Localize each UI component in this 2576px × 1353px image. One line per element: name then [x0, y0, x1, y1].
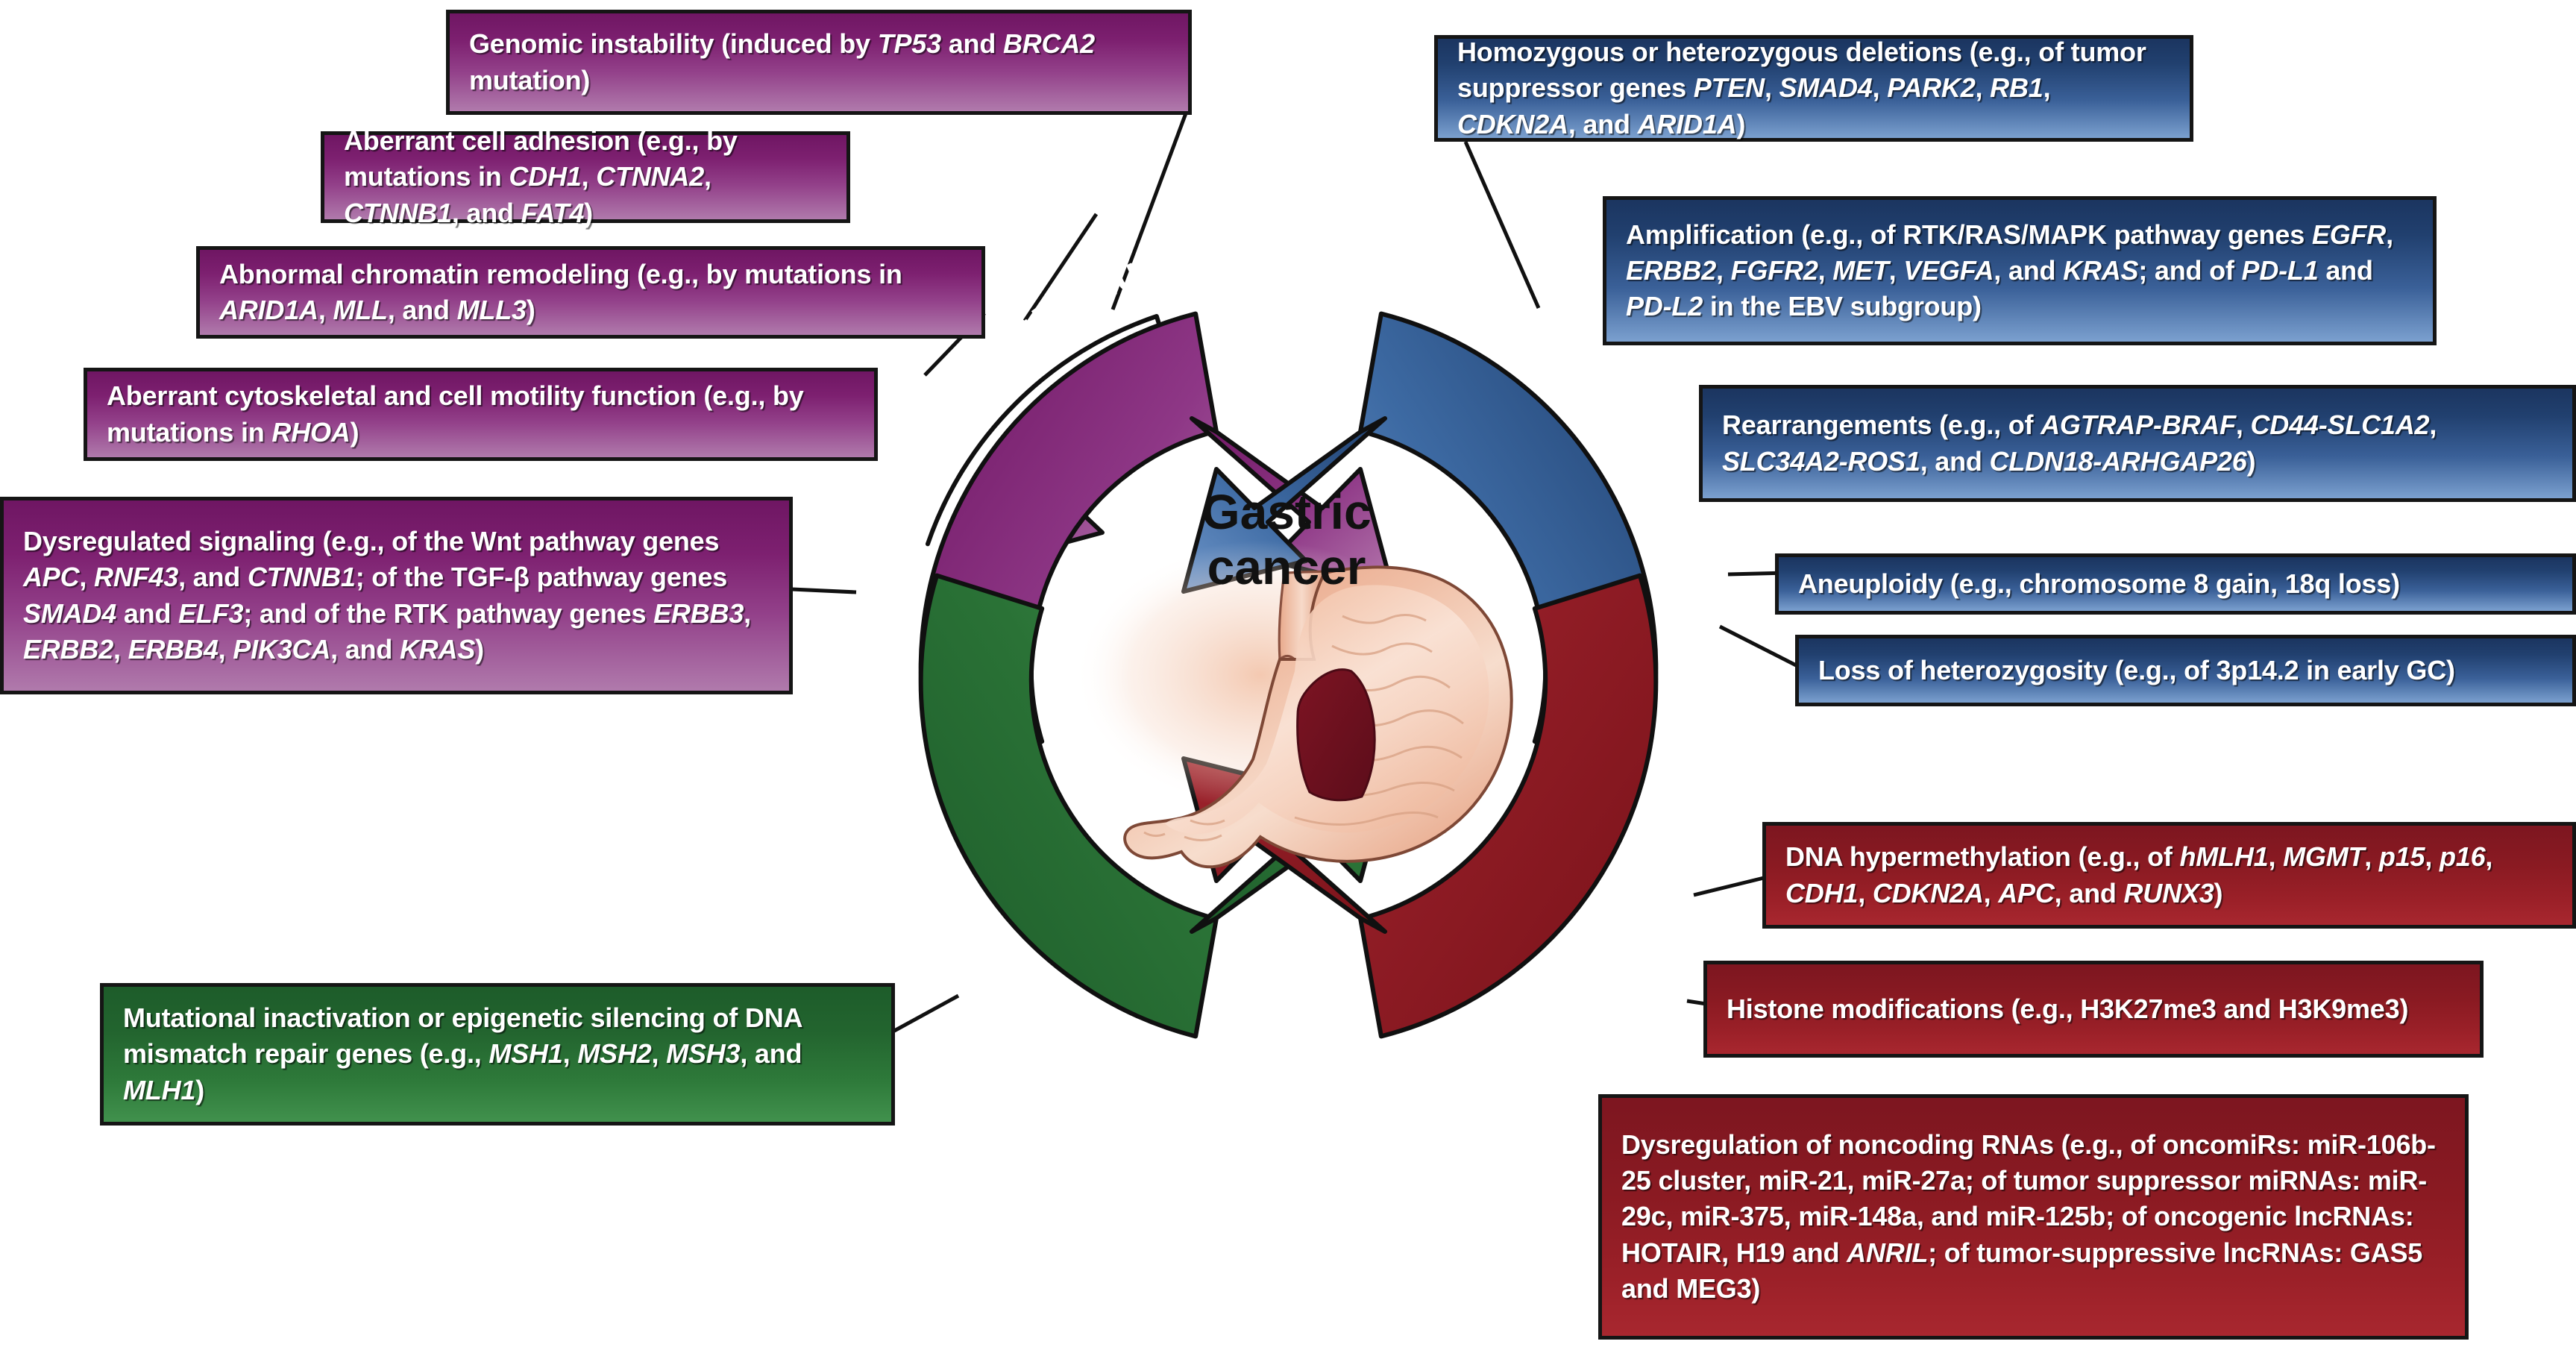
callout-abnormal-chromatin-remodeling-text: Abnormal chromatin remodeling (e.g., by … — [200, 257, 981, 328]
callout-histone-modifications[interactable]: Histone modifications (e.g., H3K27me3 an… — [1703, 961, 2484, 1058]
callout-aberrant-cytoskeletal-function[interactable]: Aberrant cytoskeletal and cell motility … — [84, 368, 878, 461]
callout-mismatch-repair-inactivation[interactable]: Mutational inactivation or epigenetic si… — [100, 983, 895, 1126]
callout-aberrant-cell-adhesion-text: Aberrant cell adhesion (e.g., by mutatio… — [324, 123, 846, 231]
callout-mismatch-repair-inactivation-text: Mutational inactivation or epigenetic si… — [104, 1000, 891, 1108]
callout-rearrangements-text: Rearrangements (e.g., of AGTRAP-BRAF, CD… — [1703, 407, 2572, 479]
callout-abnormal-chromatin-remodeling[interactable]: Abnormal chromatin remodeling (e.g., by … — [196, 246, 985, 339]
callout-noncoding-rna-dysregulation[interactable]: Dysregulation of noncoding RNAs (e.g., o… — [1598, 1094, 2469, 1340]
callout-loss-of-heterozygosity[interactable]: Loss of heterozygosity (e.g., of 3p14.2 … — [1795, 635, 2576, 706]
callout-dna-hypermethylation[interactable]: DNA hypermethylation (e.g., of hMLH1, MG… — [1762, 822, 2576, 929]
callout-aberrant-cell-adhesion[interactable]: Aberrant cell adhesion (e.g., by mutatio… — [321, 131, 850, 223]
callout-deletions[interactable]: Homozygous or heterozygous deletions (e.… — [1434, 35, 2193, 142]
callout-amplification-text: Amplification (e.g., of RTK/RAS/MAPK pat… — [1606, 217, 2433, 325]
callout-dysregulated-signaling-text: Dysregulated signaling (e.g., of the Wnt… — [4, 524, 789, 668]
diagram-canvas: Somatic mutations Chromosomal instabilit… — [0, 0, 2576, 1353]
callout-deletions-text: Homozygous or heterozygous deletions (e.… — [1438, 34, 2190, 142]
callout-rearrangements[interactable]: Rearrangements (e.g., of AGTRAP-BRAF, CD… — [1699, 385, 2576, 502]
center-label-line2: cancer — [1163, 540, 1410, 595]
callout-aberrant-cytoskeletal-function-text: Aberrant cytoskeletal and cell motility … — [87, 378, 874, 450]
center-label-line1: Gastric — [1163, 485, 1410, 540]
callout-dysregulated-signaling[interactable]: Dysregulated signaling (e.g., of the Wnt… — [0, 497, 793, 694]
callout-aneuploidy-text: Aneuploidy (e.g., chromosome 8 gain, 18q… — [1779, 566, 2572, 602]
callout-amplification[interactable]: Amplification (e.g., of RTK/RAS/MAPK pat… — [1603, 196, 2437, 345]
callout-aneuploidy[interactable]: Aneuploidy (e.g., chromosome 8 gain, 18q… — [1775, 553, 2576, 615]
callout-genomic-instability[interactable]: Genomic instability (induced by TP53 and… — [446, 10, 1192, 115]
callout-loss-of-heterozygosity-text: Loss of heterozygosity (e.g., of 3p14.2 … — [1799, 653, 2572, 688]
center-label: Gastric cancer — [1163, 485, 1410, 595]
callout-histone-modifications-text: Histone modifications (e.g., H3K27me3 an… — [1707, 991, 2480, 1027]
callout-dna-hypermethylation-text: DNA hypermethylation (e.g., of hMLH1, MG… — [1766, 839, 2572, 911]
callout-genomic-instability-text: Genomic instability (induced by TP53 and… — [450, 26, 1188, 98]
callout-noncoding-rna-dysregulation-text: Dysregulation of noncoding RNAs (e.g., o… — [1602, 1127, 2465, 1307]
